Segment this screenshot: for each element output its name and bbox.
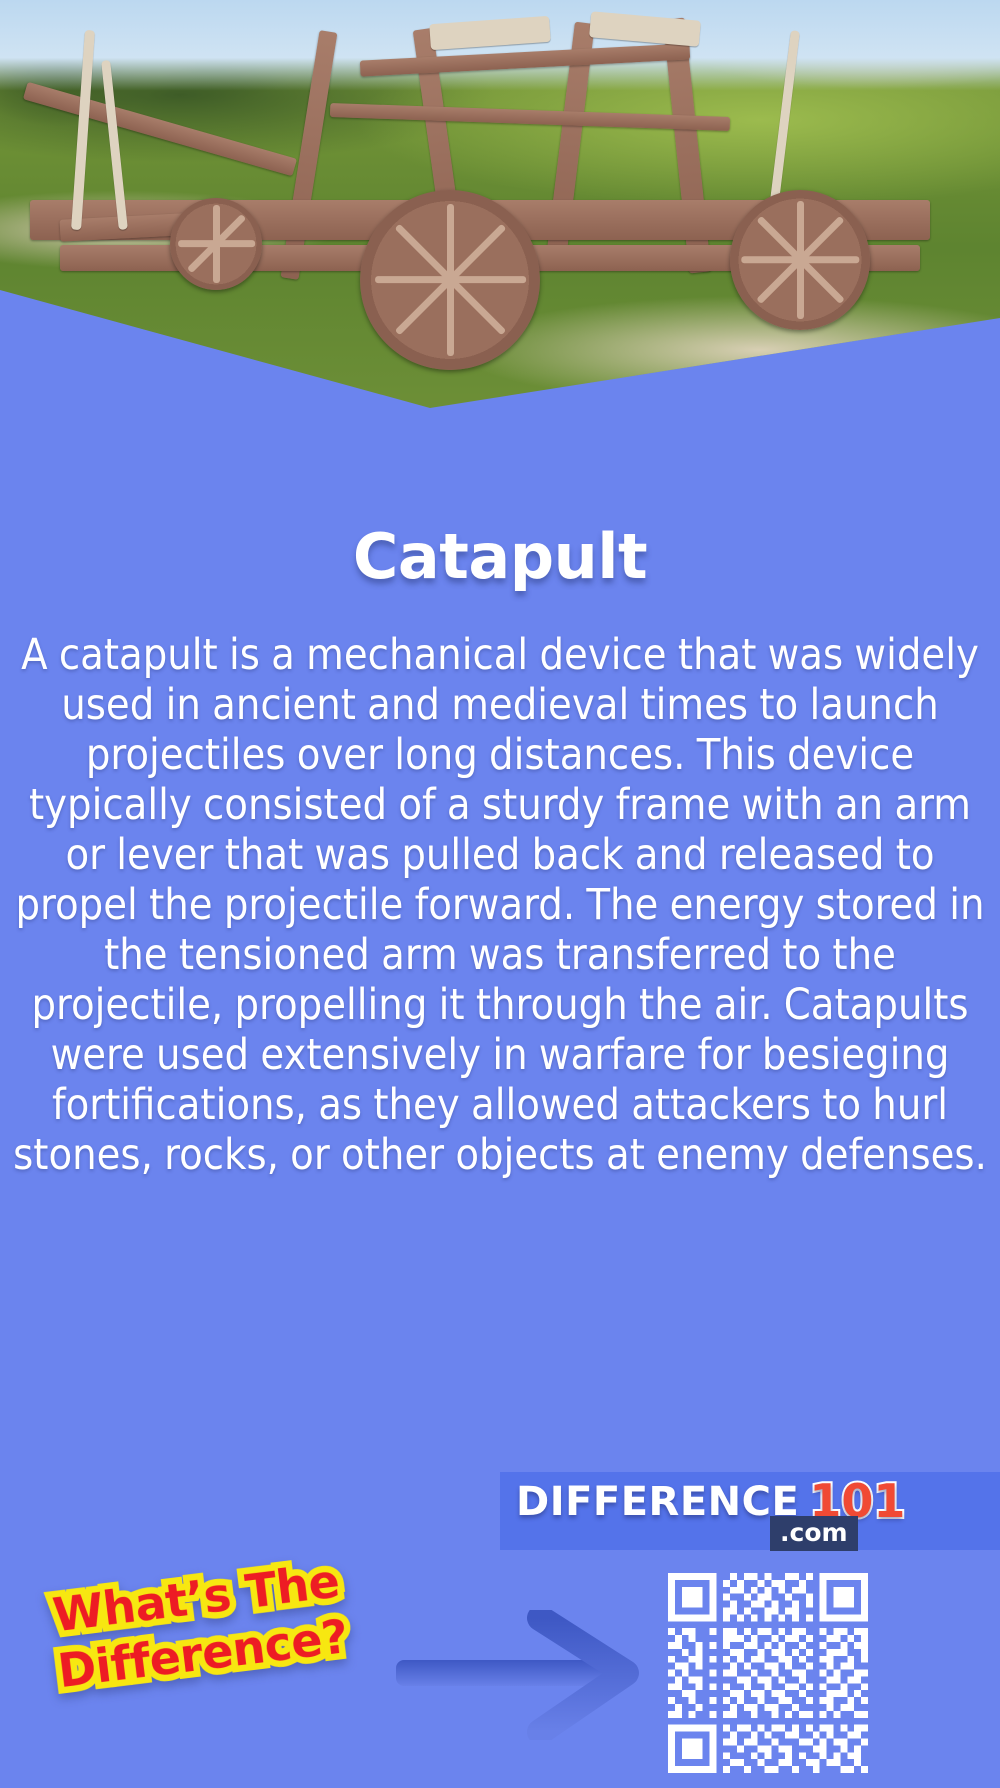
qr-code[interactable] [668,1573,868,1773]
body-paragraph: A catapult is a mechanical device that w… [10,630,990,1180]
whats-the-difference-badge: What’s The Difference? [48,1552,351,1699]
page-title: Catapult [0,520,1000,593]
right-arrow-icon [390,1610,640,1740]
logo-word-difference: DIFFERENCE [516,1478,799,1526]
logo-tld: .com [770,1516,858,1551]
catapult-photo-image [0,0,1000,412]
hero-photo [0,0,1000,412]
